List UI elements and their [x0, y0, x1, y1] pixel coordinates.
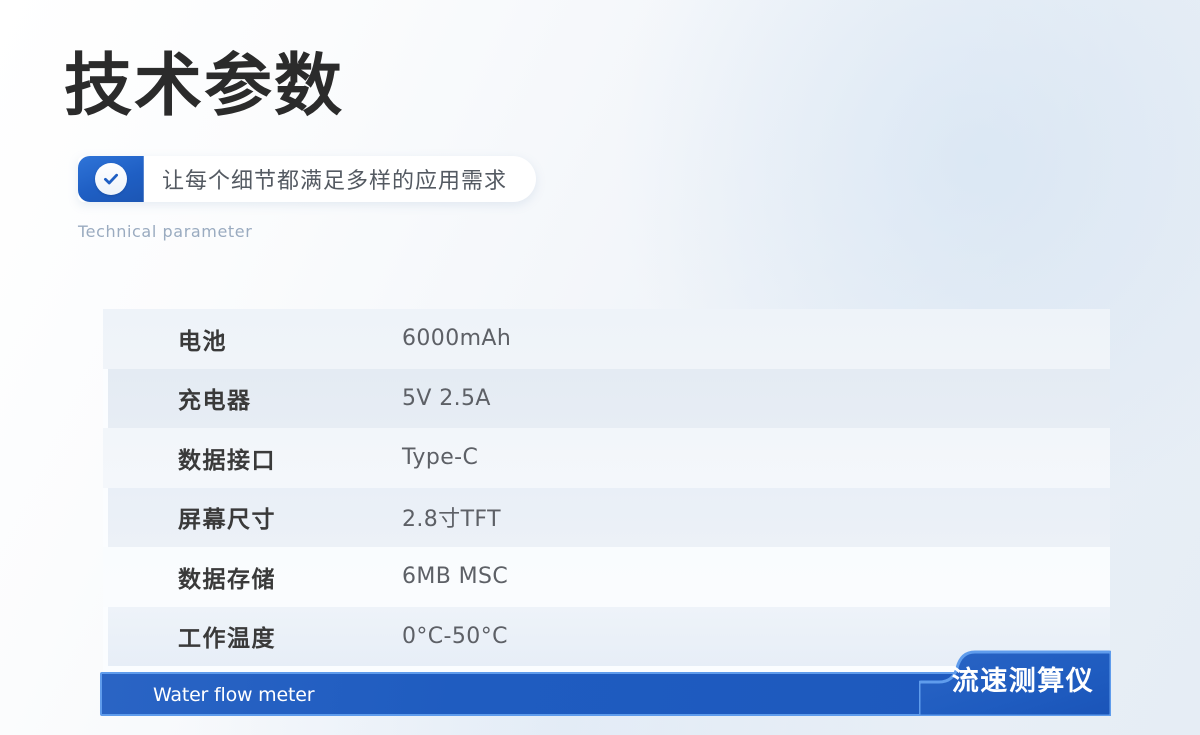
spec-value: 5V 2.5A	[402, 386, 491, 411]
check-circle-inner	[95, 163, 127, 195]
spec-label: 充电器	[178, 381, 252, 415]
footer-bar: Water flow meter 流速测算仪	[100, 640, 1111, 716]
spec-table: 电池 6000mAh 充电器 5V 2.5A 数据接口 Type-C 屏幕尺寸 …	[103, 309, 1110, 675]
spec-value: 6000mAh	[402, 326, 511, 351]
spec-value: Type-C	[402, 445, 478, 470]
tagline-text: 让每个细节都满足多样的应用需求	[144, 156, 536, 202]
check-circle-icon	[78, 156, 144, 202]
table-row: 数据存储 6MB MSC	[103, 547, 1110, 607]
subtitle-english: Technical parameter	[78, 222, 252, 241]
table-row: 数据接口 Type-C	[103, 428, 1110, 488]
spec-label: 屏幕尺寸	[178, 500, 276, 534]
footer-tab-label: 流速测算仪	[919, 640, 1103, 716]
spec-value: 6MB MSC	[402, 564, 508, 589]
header-block: 技术参数 让每个细节都满足多样的应用需求	[64, 46, 684, 128]
table-row: 屏幕尺寸 2.8寸TFT	[108, 488, 1110, 548]
spec-label: 数据存储	[178, 560, 276, 594]
spec-label: 电池	[178, 322, 227, 356]
footer-product-tab: 流速测算仪	[919, 640, 1111, 716]
table-row: 电池 6000mAh	[103, 309, 1110, 369]
tagline-pill: 让每个细节都满足多样的应用需求	[78, 156, 536, 202]
table-row: 充电器 5V 2.5A	[108, 369, 1110, 429]
spec-value: 2.8寸TFT	[402, 501, 501, 533]
spec-label: 数据接口	[178, 441, 276, 475]
footer-english-label: Water flow meter	[153, 682, 314, 708]
page-title: 技术参数	[64, 46, 684, 128]
slide-canvas: 技术参数 让每个细节都满足多样的应用需求 Technical parameter…	[0, 0, 1200, 735]
